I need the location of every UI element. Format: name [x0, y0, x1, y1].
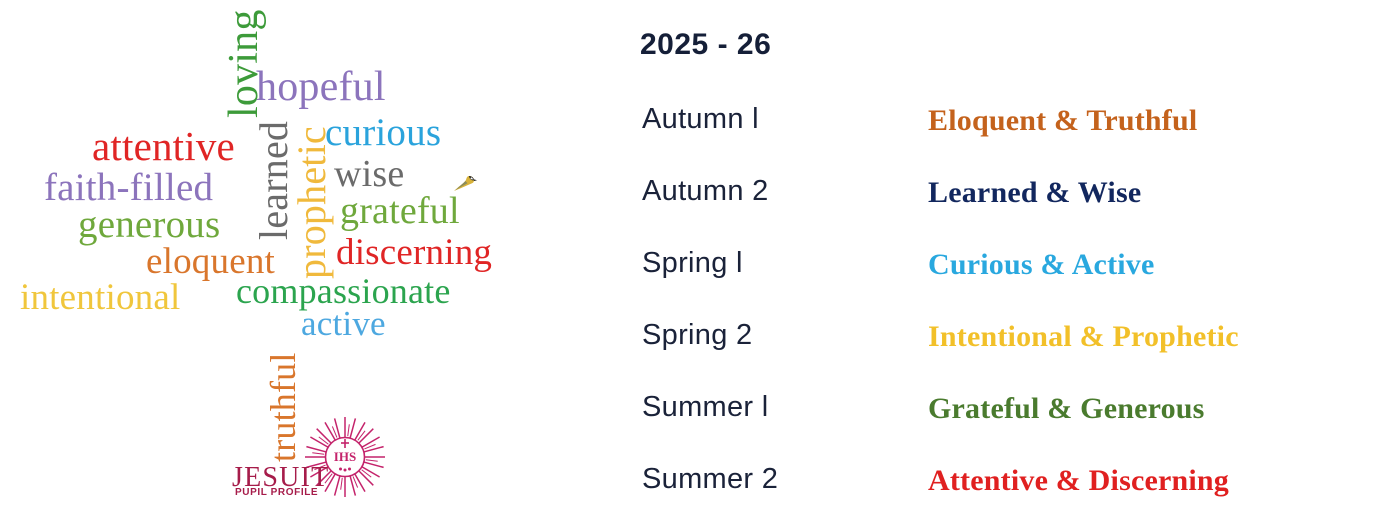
term-virtues: Curious & Active — [928, 248, 1155, 281]
table-row: Autumn 2 Learned & Wise — [640, 176, 1378, 220]
jesuit-pupil-profile-logo: IHS JESUIT PUPIL PROFILE — [232, 420, 382, 500]
table-row: Autumn l Eloquent & Truthful — [640, 104, 1378, 148]
word-learned: learned — [254, 121, 294, 240]
term-label: Autumn l — [642, 104, 759, 136]
academic-year-heading: 2025 - 26 — [640, 30, 771, 60]
term-label: Spring 2 — [642, 320, 752, 352]
bird-icon — [449, 172, 479, 196]
logo-tagline: PUPIL PROFILE — [235, 488, 318, 498]
word-grateful: grateful — [340, 192, 460, 230]
word-curious: curious — [325, 113, 441, 152]
word-active: active — [301, 306, 386, 341]
table-row: Summer l Grateful & Generous — [640, 392, 1378, 436]
term-virtues: Attentive & Discerning — [928, 464, 1229, 497]
table-row: Spring 2 Intentional & Prophetic — [640, 320, 1378, 364]
svg-text:IHS: IHS — [334, 449, 356, 464]
term-label: Autumn 2 — [642, 176, 769, 208]
word-attentive: attentive — [92, 126, 235, 167]
term-virtues: Learned & Wise — [928, 176, 1141, 209]
word-wise: wise — [334, 155, 404, 193]
word-generous: generous — [78, 205, 220, 244]
word-intentional: intentional — [20, 279, 180, 316]
term-label: Spring l — [642, 248, 743, 280]
term-virtues: Intentional & Prophetic — [928, 320, 1239, 353]
term-virtues: Eloquent & Truthful — [928, 104, 1197, 137]
table-row: Summer 2 Attentive & Discerning — [640, 464, 1378, 508]
term-schedule: 2025 - 26 Autumn l Eloquent & Truthful A… — [640, 0, 1378, 530]
table-row: Spring l Curious & Active — [640, 248, 1378, 292]
term-label: Summer l — [642, 392, 768, 424]
term-virtues: Grateful & Generous — [928, 392, 1205, 425]
word-faith-filled: faith-filled — [44, 168, 213, 207]
word-hopeful: hopeful — [256, 66, 386, 108]
word-prophetic: prophetic — [292, 126, 332, 279]
term-label: Summer 2 — [642, 464, 778, 496]
word-cloud: loving hopeful attentive curious learned… — [0, 0, 560, 530]
word-discerning: discerning — [336, 234, 492, 271]
